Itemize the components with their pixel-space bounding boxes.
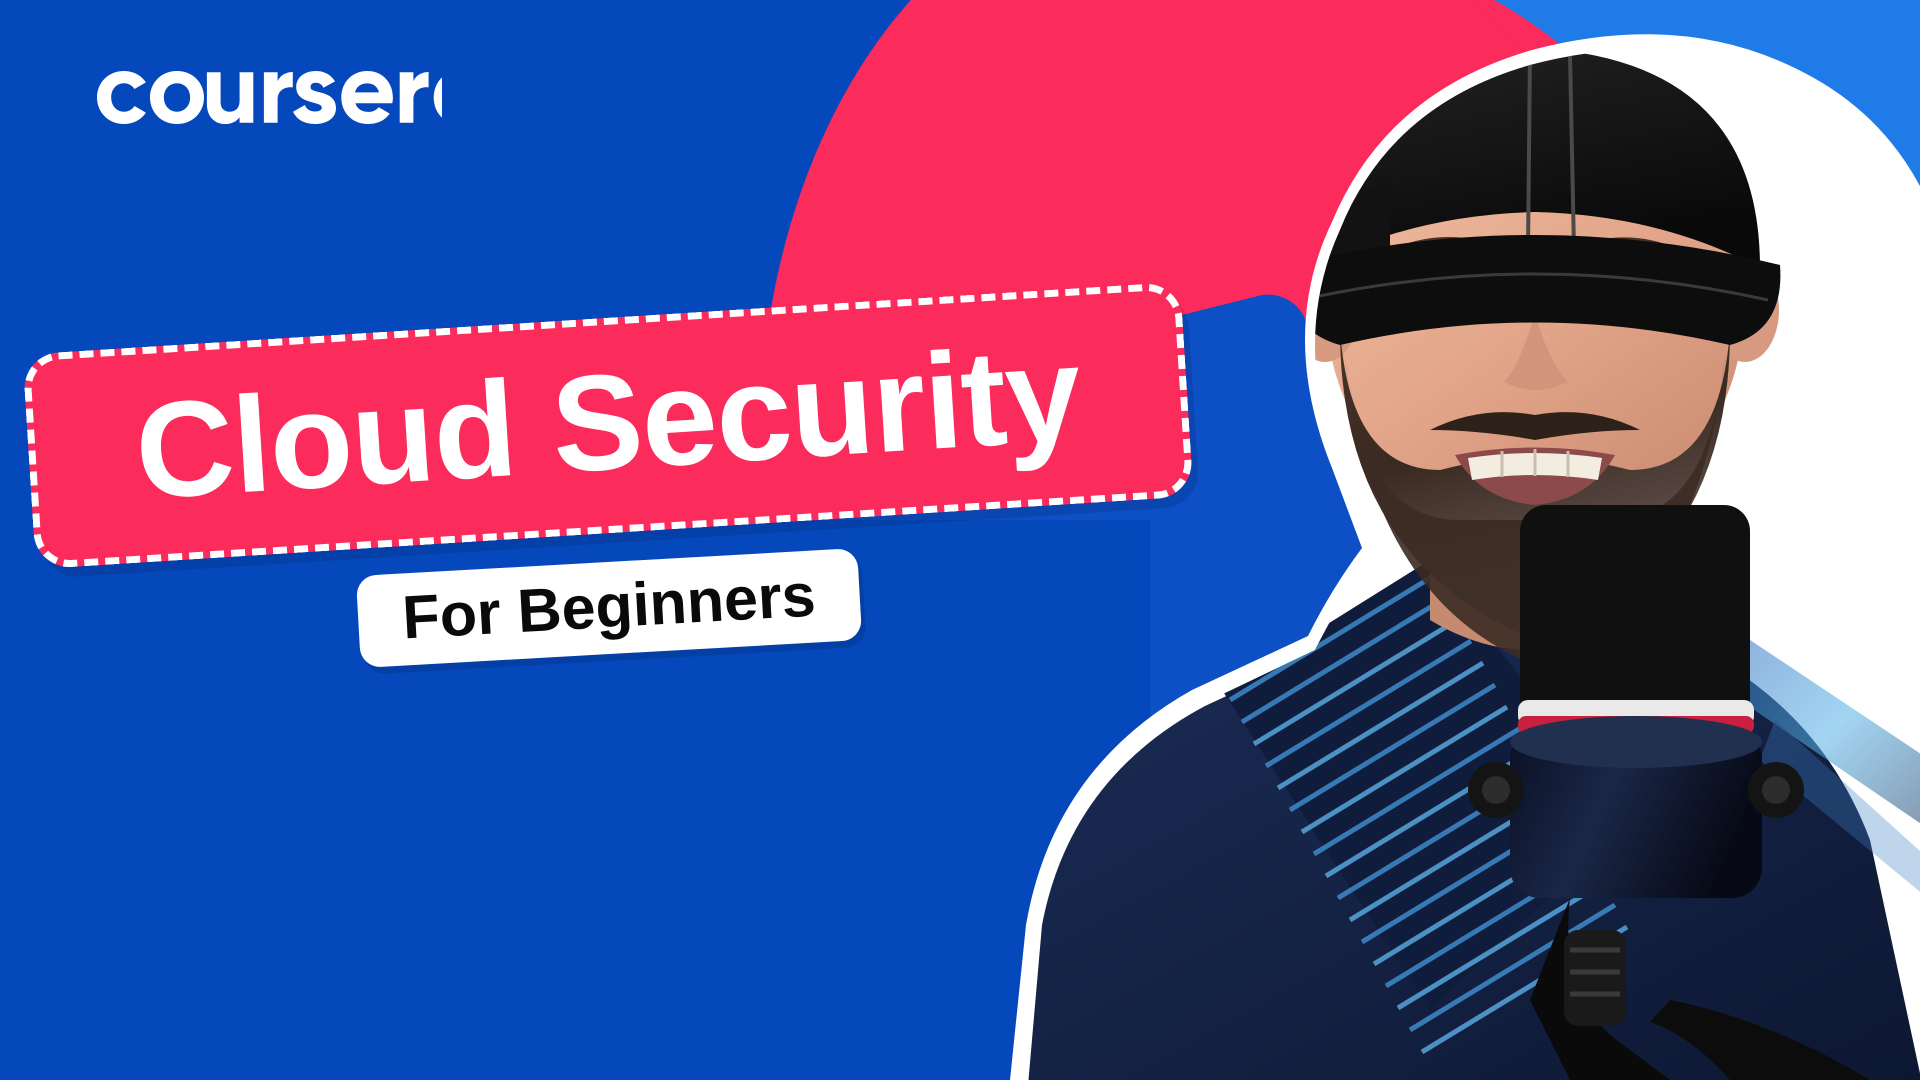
coursera-wordmark-icon [92, 62, 442, 124]
presenter-photo [870, 0, 1920, 1080]
page-title: Cloud Security [132, 324, 1084, 519]
youtube-thumbnail-canvas: Cloud Security For Beginners [0, 0, 1920, 1080]
coursera-logo[interactable] [92, 62, 442, 124]
page-subtitle: For Beginners [401, 564, 817, 648]
